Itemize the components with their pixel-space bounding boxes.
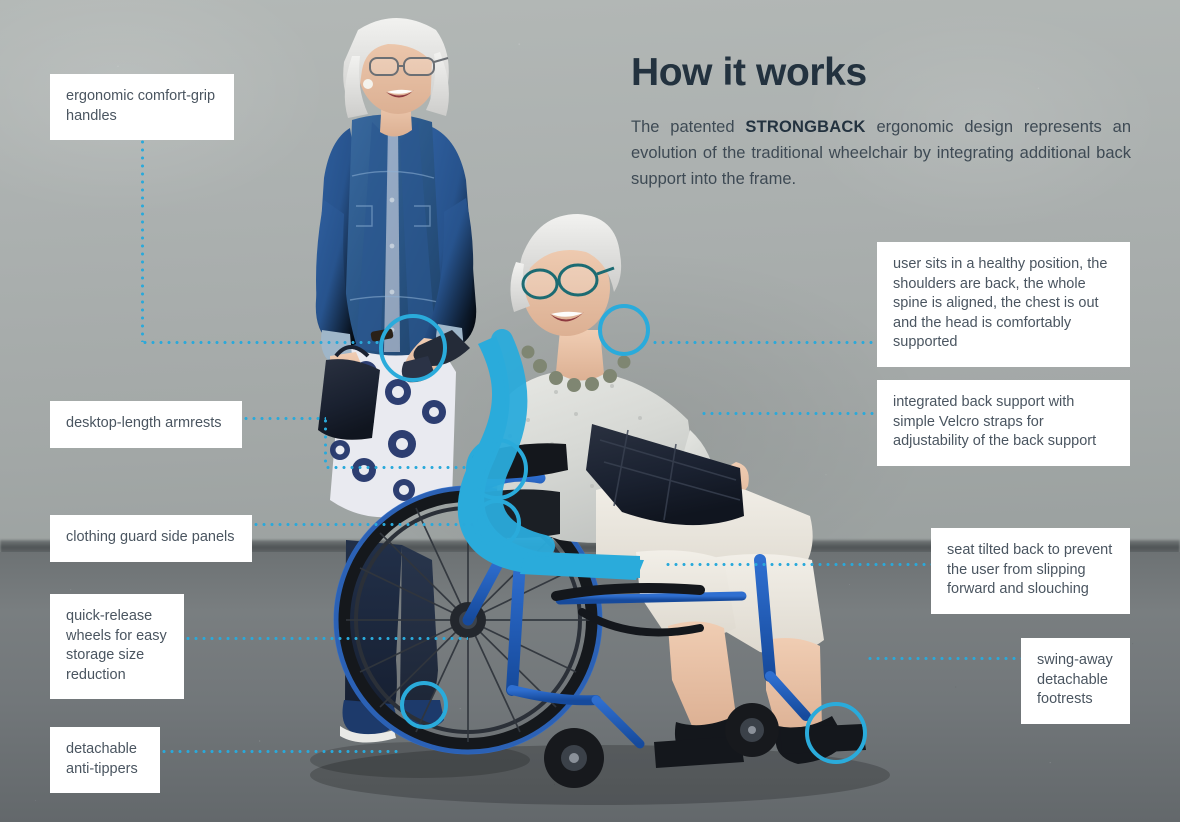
- callout-seat-tilt: seat tilted back to prevent the user fro…: [931, 528, 1130, 614]
- callout-back-support: integrated back support with simple Velc…: [877, 380, 1130, 466]
- footrest-ring: [805, 702, 867, 764]
- headline-block: How it works The patented STRONGBACK erg…: [631, 50, 1131, 192]
- callout-side-panels-text: clothing guard side panels: [66, 529, 234, 545]
- callout-footrests-text: swing-away detachable footrests: [1037, 652, 1113, 707]
- side-panel-ring: [473, 499, 521, 547]
- connector-side-panels: [252, 523, 474, 526]
- headline-body-before: The patented: [631, 118, 745, 136]
- headline-body: The patented STRONGBACK ergonomic design…: [631, 114, 1131, 192]
- infographic-canvas: How it works The patented STRONGBACK erg…: [0, 0, 1180, 822]
- callout-posture: user sits in a healthy position, the sho…: [877, 242, 1130, 367]
- callout-handles: ergonomic comfort-grip handles: [50, 74, 234, 140]
- callout-quick-release-text: quick-release wheels for easy storage si…: [66, 608, 167, 683]
- shoulder-ring: [598, 304, 650, 356]
- connector-posture: [651, 341, 879, 344]
- connector-anti-tippers: [160, 750, 402, 753]
- connector-footrests: [866, 657, 1021, 660]
- connector-armrests-horizontal2: [324, 466, 467, 469]
- page-title: How it works: [631, 50, 1131, 96]
- brand-name: STRONGBACK: [745, 118, 865, 136]
- callout-handles-text: ergonomic comfort-grip handles: [66, 88, 215, 124]
- callout-side-panels: clothing guard side panels: [50, 515, 252, 562]
- callout-back-support-text: integrated back support with simple Velc…: [893, 394, 1096, 449]
- connector-armrests-horizontal: [242, 417, 326, 420]
- callout-quick-release: quick-release wheels for easy storage si…: [50, 594, 184, 699]
- callout-footrests: swing-away detachable footrests: [1021, 638, 1130, 724]
- callout-armrests: desktop-length armrests: [50, 401, 242, 448]
- connector-back-support: [700, 412, 880, 415]
- connector-armrests-vertical: [324, 417, 327, 467]
- handle-grip-ring: [379, 314, 447, 382]
- callout-seat-tilt-text: seat tilted back to prevent the user fro…: [947, 542, 1112, 597]
- seated-user-figure: [497, 214, 846, 764]
- anti-tipper-ring: [400, 681, 448, 729]
- armrest-ring: [466, 438, 528, 500]
- connector-handles-vertical: [141, 130, 144, 342]
- callout-anti-tippers-text: detachable anti-tippers: [66, 741, 138, 777]
- connector-seat-tilt: [664, 563, 932, 566]
- callout-armrests-text: desktop-length armrests: [66, 415, 222, 431]
- connector-handles-horizontal: [141, 341, 381, 344]
- callout-posture-text: user sits in a healthy position, the sho…: [893, 256, 1107, 350]
- connector-quick-release: [184, 637, 468, 640]
- callout-anti-tippers: detachable anti-tippers: [50, 727, 160, 793]
